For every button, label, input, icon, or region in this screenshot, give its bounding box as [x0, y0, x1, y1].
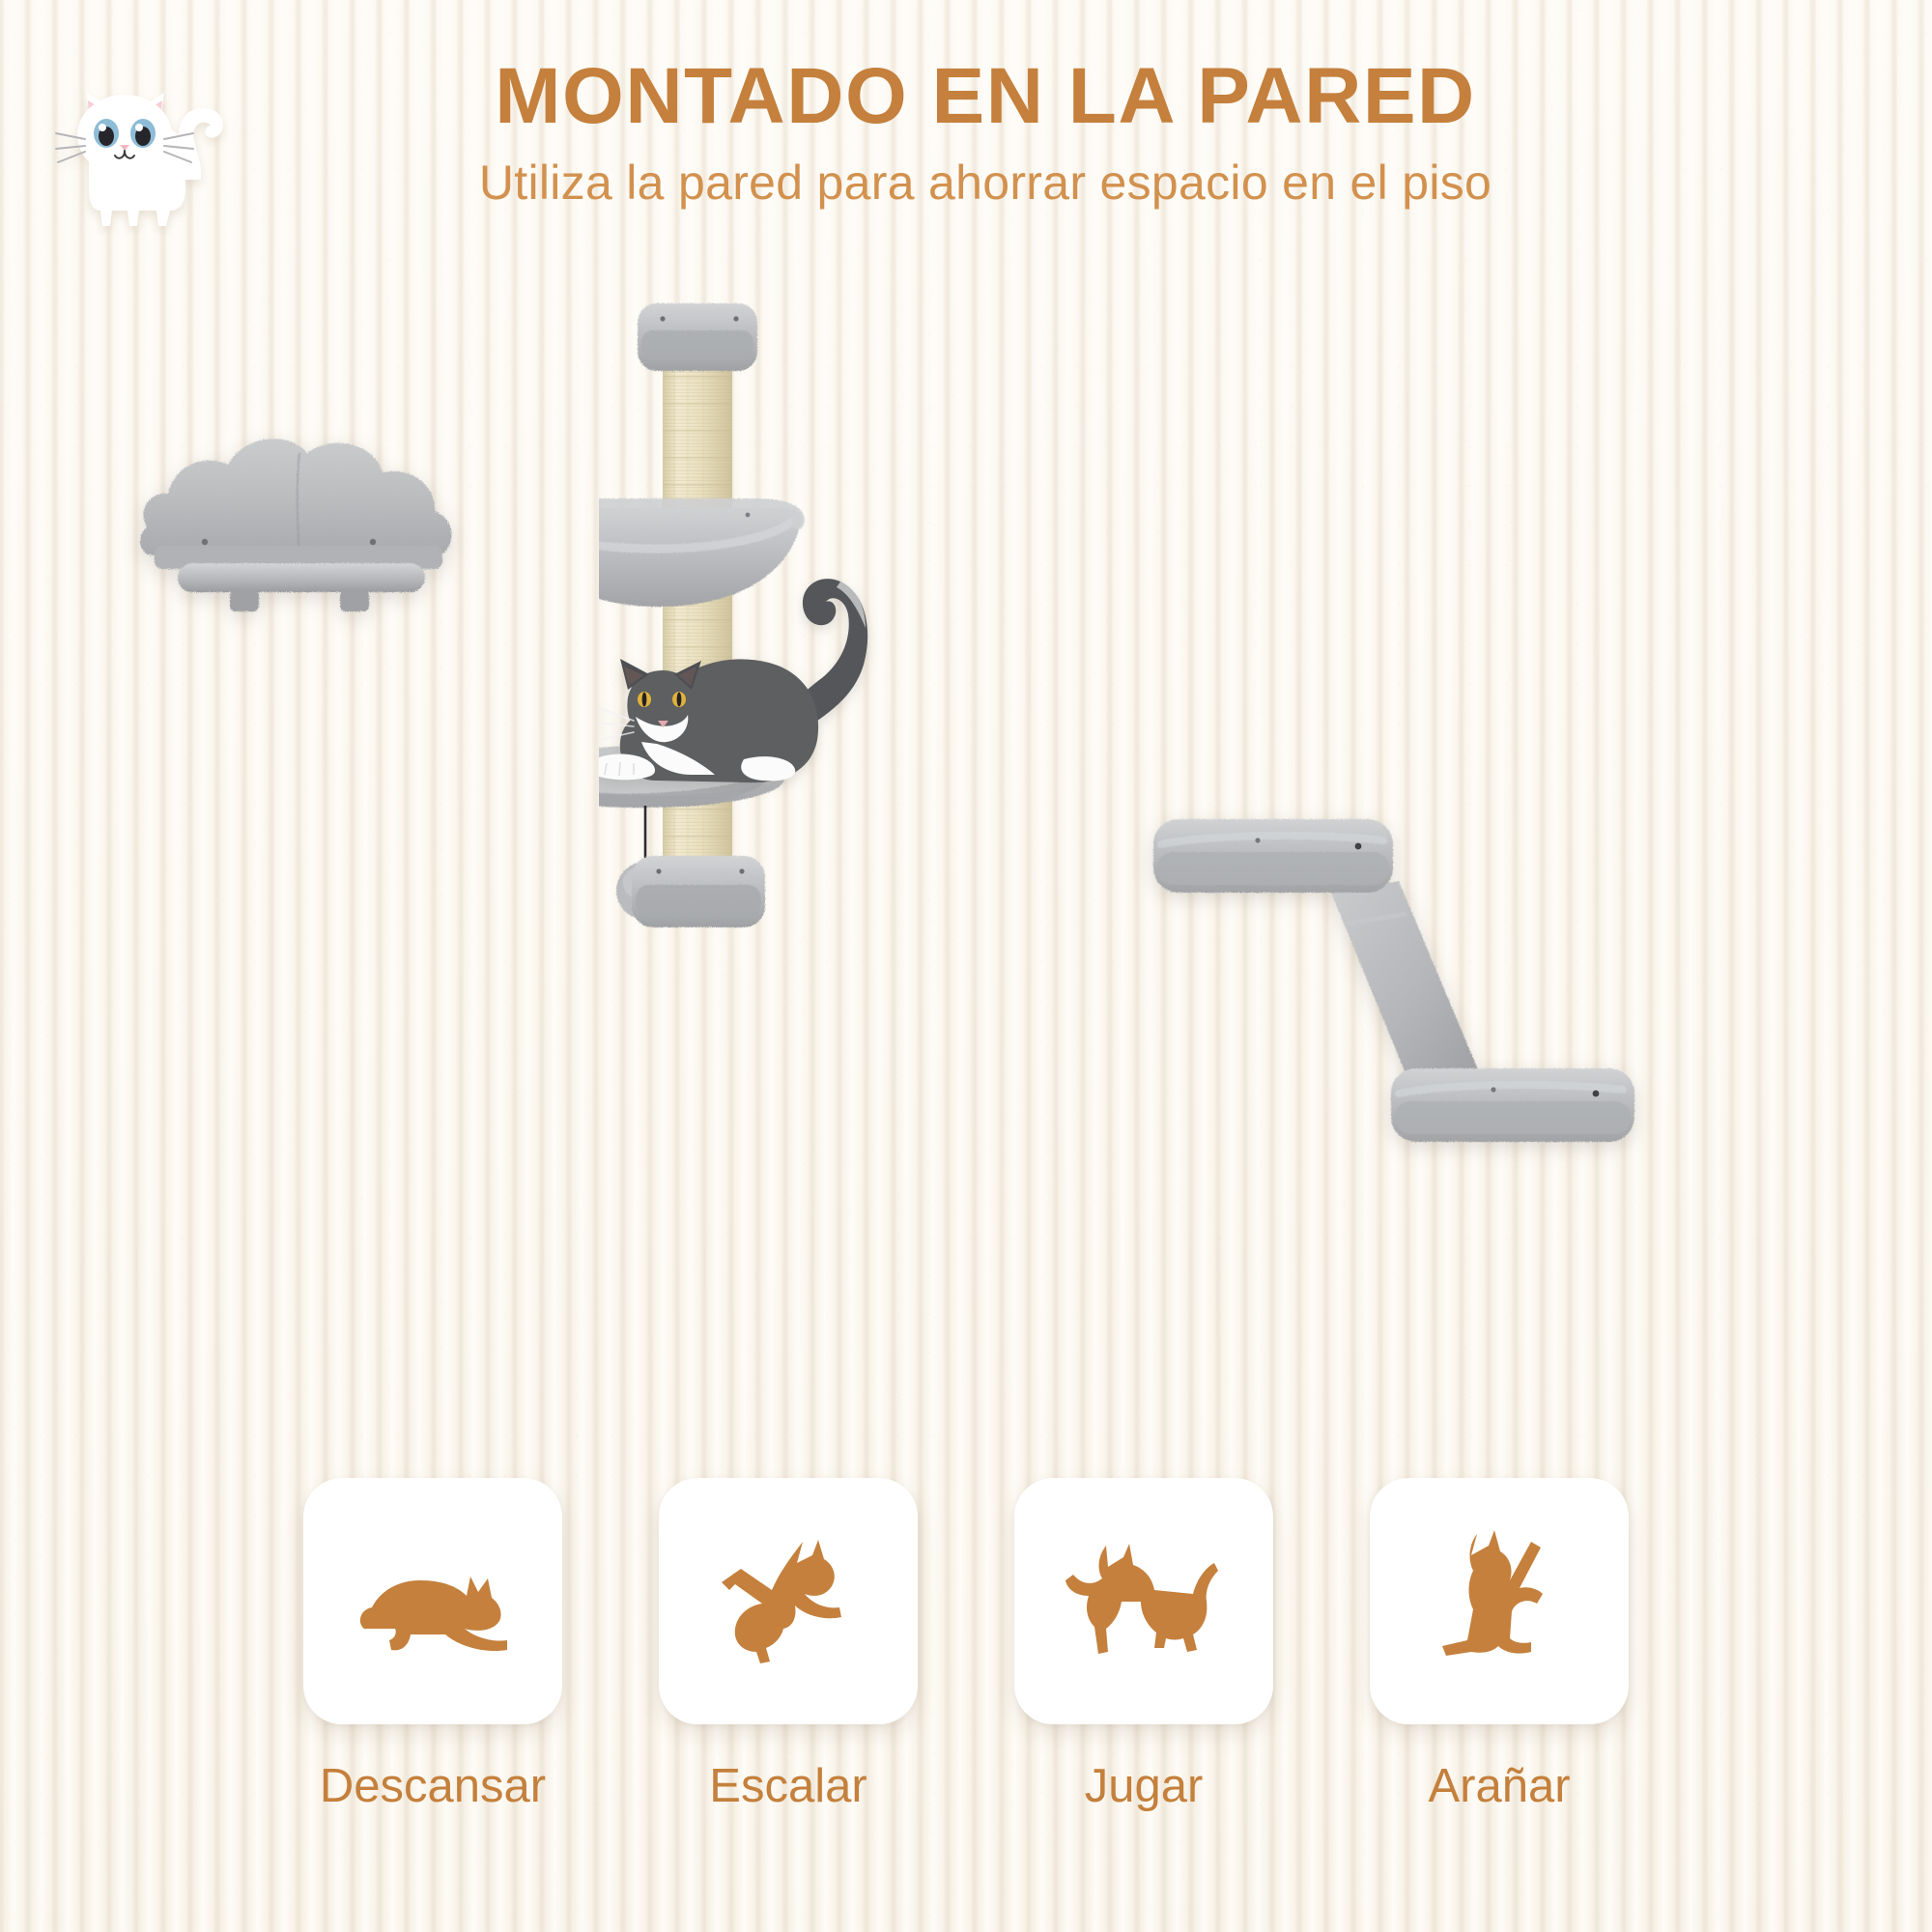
product-infographic: MONTADO EN LA PARED Utiliza la pared par…	[0, 0, 1932, 1932]
page-subtitle: Utiliza la pared para ahorrar espacio en…	[261, 155, 1710, 211]
cloud-shelf-icon	[135, 411, 464, 628]
step-shelf-icon	[1140, 792, 1662, 1207]
feature-item-jugar[interactable]: Jugar	[1009, 1478, 1279, 1813]
feature-item-escalar[interactable]: Escalar	[653, 1478, 923, 1813]
header: MONTADO EN LA PARED Utiliza la pared par…	[0, 0, 1932, 290]
title-block: MONTADO EN LA PARED Utiliza la pared par…	[261, 56, 1710, 211]
feature-label: Descansar	[320, 1759, 546, 1813]
feature-label: Arañar	[1428, 1759, 1570, 1813]
feature-label: Escalar	[709, 1759, 867, 1813]
cat-playing-icon	[1052, 1524, 1236, 1679]
cat-lying-icon	[341, 1524, 525, 1679]
feature-card[interactable]	[1370, 1478, 1629, 1724]
feature-item-aranar[interactable]: Arañar	[1364, 1478, 1634, 1813]
cat-climbing-icon	[696, 1524, 880, 1679]
feature-card[interactable]	[303, 1478, 562, 1724]
feature-card[interactable]	[659, 1478, 918, 1724]
scratching-post-icon	[599, 280, 1005, 976]
white-cat-mascot-icon	[39, 75, 256, 235]
feature-list: Descansar Escalar Jugar	[0, 1478, 1932, 1884]
product-scene	[0, 280, 1932, 1420]
feature-card[interactable]	[1014, 1478, 1273, 1724]
page-title: MONTADO EN LA PARED	[261, 56, 1710, 137]
cat-scratching-icon	[1407, 1524, 1591, 1679]
feature-label: Jugar	[1085, 1759, 1204, 1813]
feature-item-descansar[interactable]: Descansar	[298, 1478, 568, 1813]
cat-photo	[599, 579, 867, 782]
